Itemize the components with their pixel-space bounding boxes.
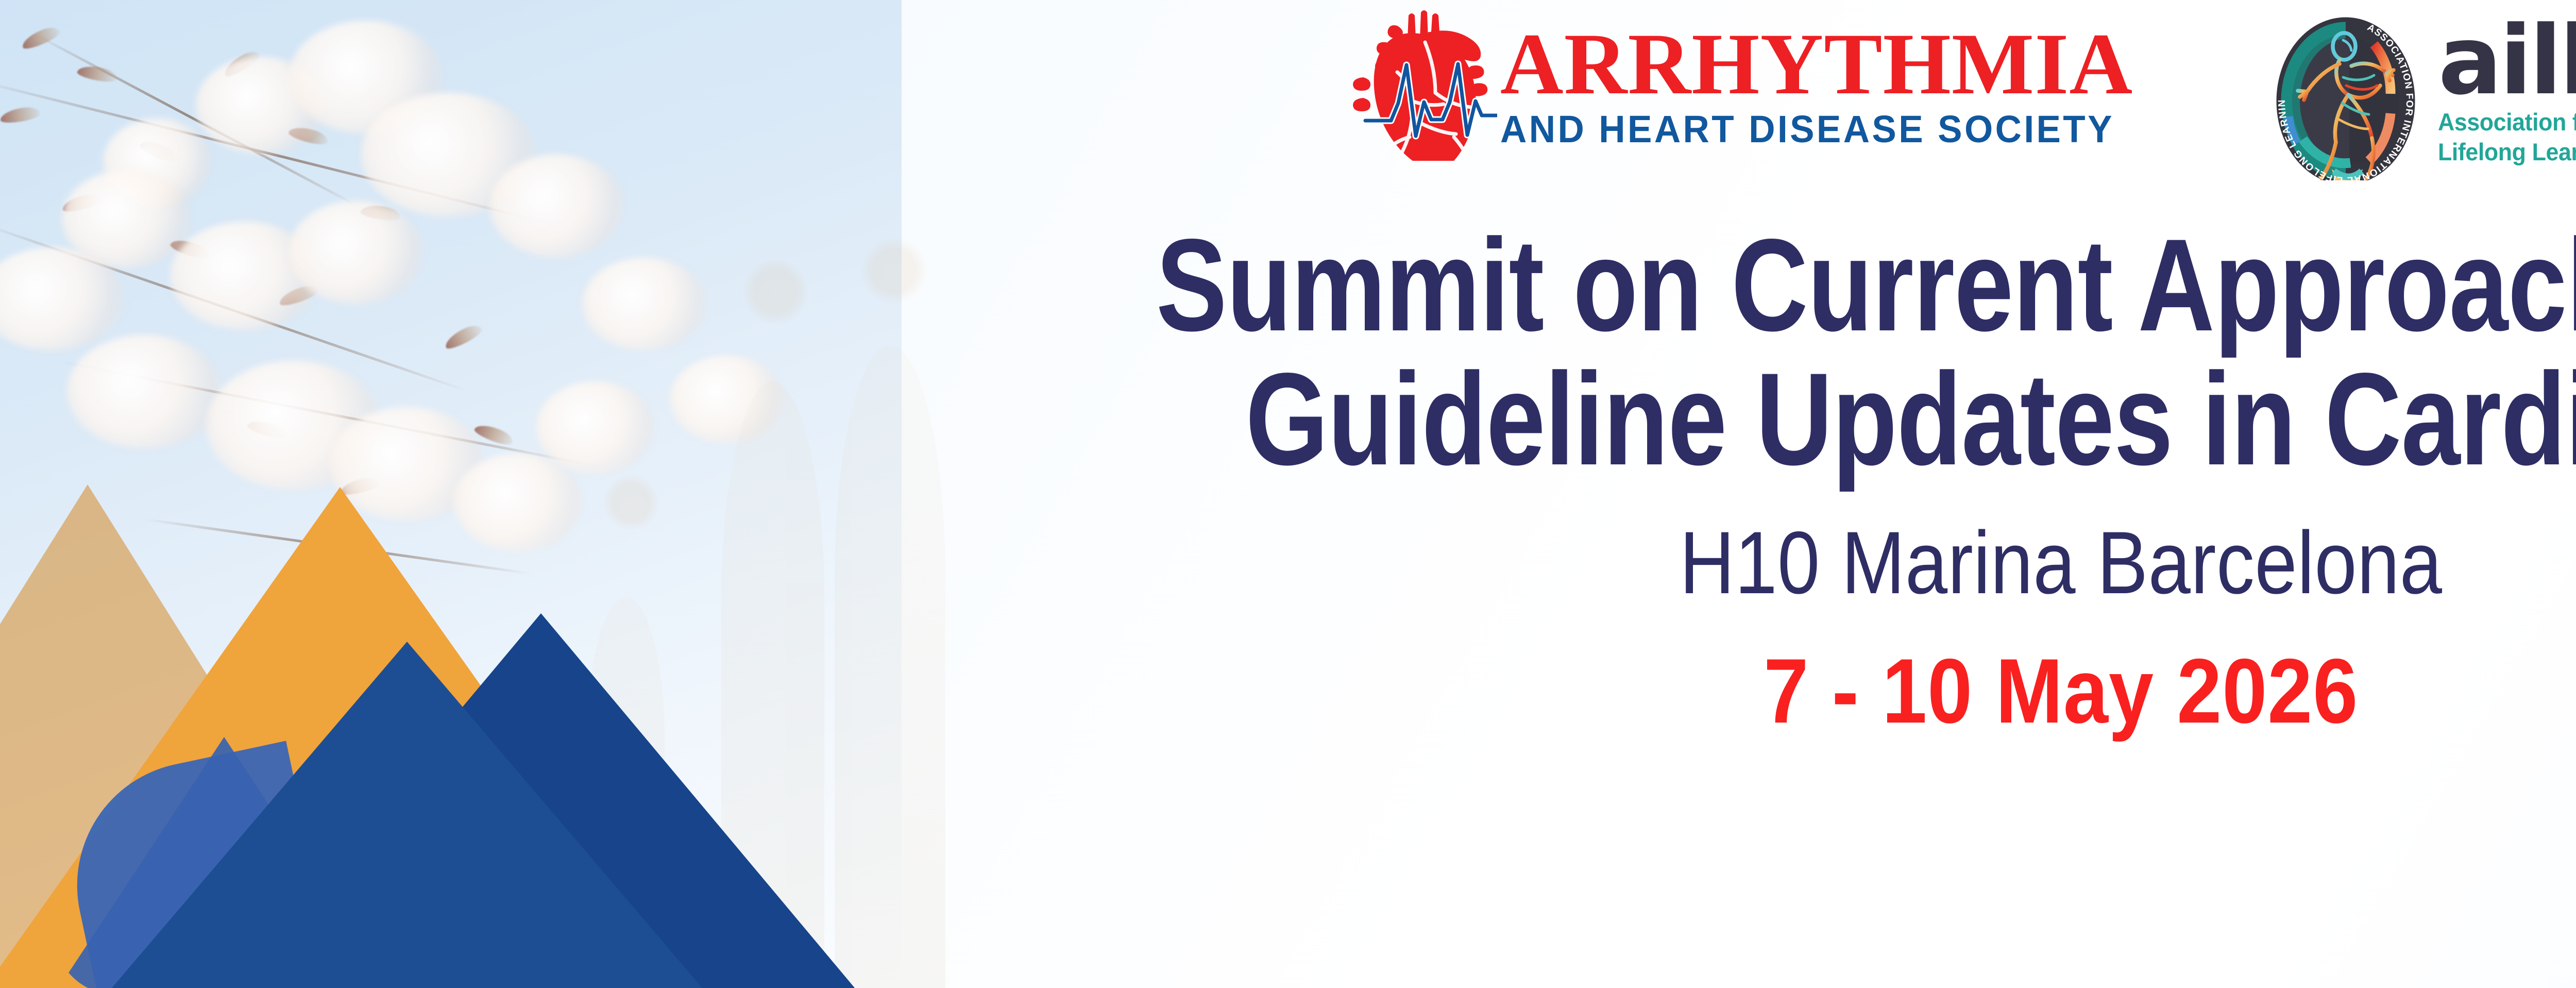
- society-logo-text: ARRHYTHMIA AND HEART DISEASE SOCIETY: [1500, 10, 2140, 148]
- association-logo: ASSOCIATION FOR INTERNATIONAL LIFELONG L…: [2271, 10, 2576, 180]
- society-name: ARRHYTHMIA: [1500, 26, 2140, 103]
- conference-banner: ARRHYTHMIA AND HEART DISEASE SOCIETY: [0, 0, 2576, 988]
- aillme-wordmark: aillme: [2438, 24, 2576, 98]
- association-subtitle: Association for International Lifelong L…: [2438, 107, 2576, 166]
- society-subtitle: AND HEART DISEASE SOCIETY: [1500, 110, 2114, 148]
- association-subtitle-line2: Lifelong Learning in Medicine: [2438, 137, 2576, 166]
- society-logo: ARRHYTHMIA AND HEART DISEASE SOCIETY: [1348, 10, 2140, 165]
- association-logo-text: aillme Association for International Lif…: [2438, 24, 2576, 166]
- logo-row: ARRHYTHMIA AND HEART DISEASE SOCIETY: [1348, 10, 2576, 180]
- event-venue: H10 Marina Barcelona: [1100, 518, 2576, 607]
- event-dates: 7 - 10 May 2026: [1078, 645, 2576, 737]
- banner-content: ARRHYTHMIA AND HEART DISEASE SOCIETY: [0, 0, 2576, 988]
- event-title-line1: Summit on Current Approaches and: [1156, 219, 2576, 353]
- event-title-line2: Guideline Updates in Cardiology: [1156, 353, 2576, 487]
- aillme-running-figure-emblem-icon: ASSOCIATION FOR INTERNATIONAL LIFELONG L…: [2271, 10, 2420, 180]
- association-subtitle-line1: Association for International: [2438, 107, 2576, 137]
- event-headline: Summit on Current Approaches and Guideli…: [944, 219, 2576, 737]
- anatomical-heart-with-ecg-icon: [1348, 10, 1497, 165]
